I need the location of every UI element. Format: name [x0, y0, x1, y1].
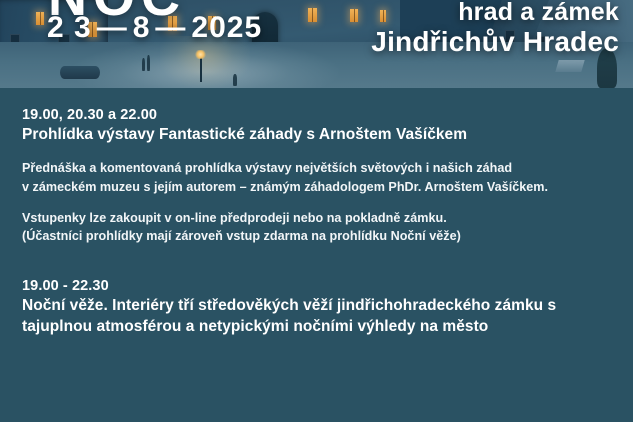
programme-title: Noční věže. Interiéry tří středověkých v…: [22, 296, 611, 337]
programme-item-1: 19.00, 20.30 a 22.00 Prohlídka výstavy F…: [22, 107, 611, 245]
venue-line-1: hrad a zámek: [371, 0, 619, 26]
person-silhouette: [142, 58, 145, 71]
venue-name: hrad a zámek Jindřichův Hradec: [371, 0, 619, 57]
lamp-light-icon: [195, 50, 206, 59]
programme-description: Přednáška a komentovaná prohlídka výstav…: [22, 159, 611, 196]
date-separator: —: [155, 11, 186, 45]
person-silhouette: [147, 55, 150, 71]
description-line: Přednáška a komentovaná prohlídka výstav…: [22, 159, 611, 177]
programme-list: 19.00, 20.30 a 22.00 Prohlídka výstavy F…: [0, 88, 633, 337]
ticket-info: Vstupenky lze zakoupit v on-line předpro…: [22, 209, 611, 246]
date-separator: —: [97, 11, 128, 45]
date-month: 8: [133, 11, 151, 45]
lit-window-icon: [308, 8, 317, 22]
description-line: v zámeckém muzeu s jejím autorem – známý…: [22, 178, 611, 196]
lit-window-icon: [350, 9, 358, 22]
lamp-post: [200, 56, 202, 82]
lit-window-icon: [36, 12, 44, 25]
bench: [555, 60, 584, 72]
programme-title: Prohlídka výstavy Fantastické záhady s A…: [22, 125, 611, 145]
programme-time: 19.00 - 22.30: [22, 278, 611, 294]
programme-item-2: 19.00 - 22.30 Noční věže. Interiéry tří …: [22, 278, 611, 337]
planter: [60, 66, 100, 79]
date-day: 2 3: [47, 11, 92, 45]
ticket-info-line: Vstupenky lze zakoupit v on-line předpro…: [22, 209, 611, 227]
date-year: 2025: [191, 11, 262, 45]
programme-time: 19.00, 20.30 a 22.00: [22, 107, 611, 123]
event-date: 2 3 — 8 — 2025: [47, 11, 262, 45]
person-silhouette: [233, 74, 237, 86]
venue-line-2: Jindřichův Hradec: [371, 26, 619, 57]
hero-banner: NOC 2 3 — 8 — 2025 hrad a zámek Jindřich…: [0, 0, 633, 88]
ticket-info-line: (Účastníci prohlídky mají zároveň vstup …: [22, 227, 611, 245]
